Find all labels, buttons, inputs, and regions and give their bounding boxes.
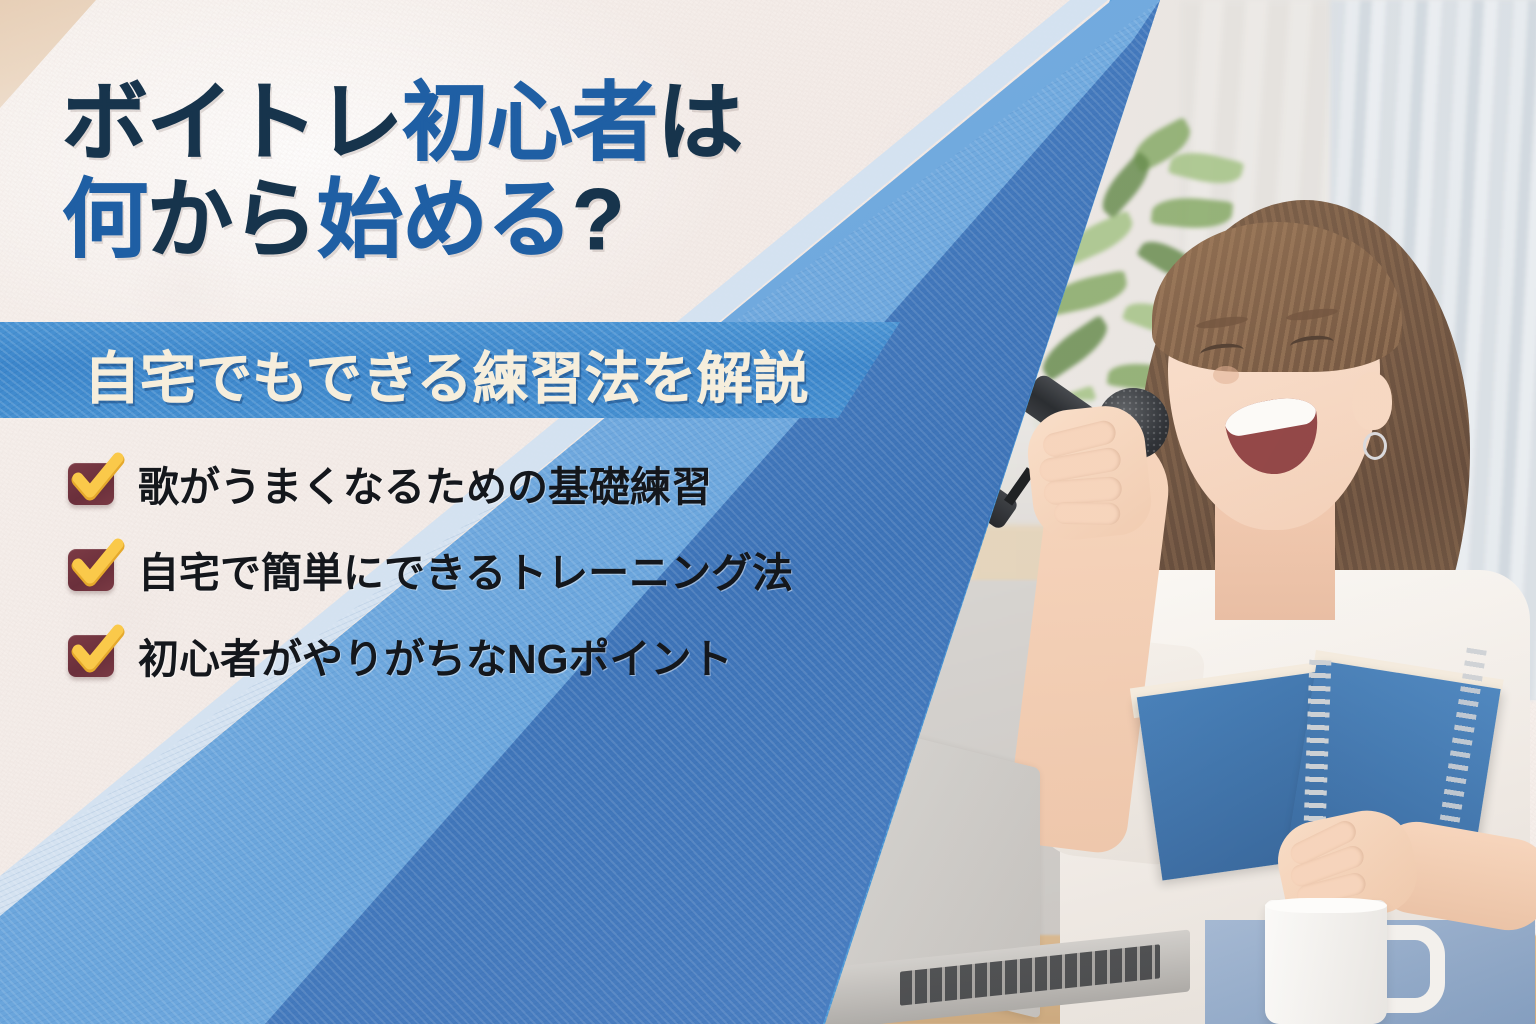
text-panel: ボイトレ初心者は 何から始める? 自宅でもできる練習法を解説 歌がうまくなるた — [0, 0, 1000, 1024]
checklist-item: 初心者がやりがちなNGポイント — [66, 627, 946, 683]
checkbox-checked-icon — [66, 543, 118, 595]
headline-seg-voice-training: ボイトレ — [62, 78, 402, 169]
checklist-item-label: 初心者がやりがちなNGポイント — [138, 625, 733, 685]
checklist-item-label: 自宅で簡単にできるトレーニング法 — [138, 539, 793, 599]
checkbox-checked-icon — [66, 629, 118, 681]
headline-seg-question-mark: ? — [572, 175, 624, 266]
headline-seg-nani: 何 — [62, 175, 147, 266]
coffee-mug-icon — [1265, 900, 1387, 1024]
checklist-item: 自宅で簡単にできるトレーニング法 — [66, 541, 946, 597]
checkbox-checked-icon — [66, 457, 118, 509]
checklist-item: 歌がうまくなるための基礎練習 — [66, 455, 946, 511]
headline-line-2: 何から始める? — [62, 175, 962, 266]
earring-icon — [1363, 432, 1387, 460]
ear — [1352, 372, 1392, 430]
headline: ボイトレ初心者は 何から始める? — [62, 78, 962, 266]
checkmark-icon — [65, 450, 127, 512]
headline-line-1: ボイトレ初心者は — [62, 78, 962, 169]
banner-root: ボイトレ初心者は 何から始める? 自宅でもできる練習法を解説 歌がうまくなるた — [0, 0, 1536, 1024]
mug-handle — [1378, 925, 1445, 1013]
checkmark-icon — [65, 536, 127, 598]
headline-seg-beginner: 初心者 — [402, 78, 657, 169]
headline-seg-hajimeru: 始める — [317, 175, 572, 266]
nose — [1213, 366, 1239, 384]
hand-holding-microphone — [1024, 402, 1155, 544]
mug-rim — [1265, 898, 1387, 913]
subtitle-ribbon-label: 自宅でもできる練習法を解説 — [84, 334, 809, 415]
headline-seg-kara: から — [147, 175, 317, 266]
checklist-item-label: 歌がうまくなるための基礎練習 — [138, 453, 712, 513]
headline-seg-wa: は — [657, 78, 742, 169]
checkmark-icon — [65, 622, 127, 684]
checklist: 歌がうまくなるための基礎練習 自宅で簡単にできるトレーニング法 — [66, 455, 946, 683]
